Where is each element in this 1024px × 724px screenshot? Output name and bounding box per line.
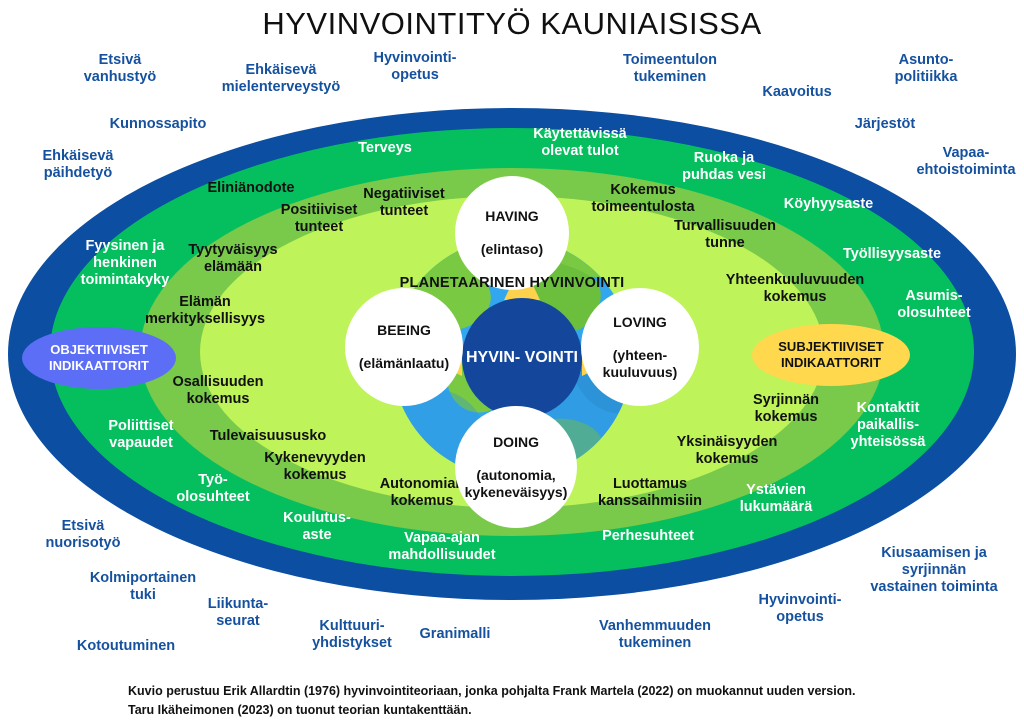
ring1-label-5: Työllisyysaste: [826, 246, 958, 263]
outer-label-8: Ehkäisevä päihdetyö: [18, 148, 138, 182]
ring1-label-0: Terveys: [340, 140, 430, 157]
outer-label-7: Järjestöt: [830, 116, 940, 133]
page-title: HYVINVOINTITYÖ KAUNIAISISSA: [0, 6, 1024, 42]
outer-label-2: Hyvinvointi- opetus: [350, 50, 480, 84]
outer-label-4: Kaavoitus: [742, 84, 852, 101]
ring1-label-4: Köyhyysaste: [766, 196, 891, 213]
outer-label-1: Ehkäisevä mielenterveystyö: [196, 62, 366, 96]
ring1-label-10: Vapaa-ajan mahdollisuudet: [362, 530, 522, 564]
ring2-label-6: Turvallisuuden tunne: [650, 218, 800, 252]
ring2-label-7: Yhteenkuuluvuuden kokemus: [700, 272, 890, 306]
dimension-loving-subtitle: (yhteen- kuuluvuus): [597, 347, 684, 380]
dimension-beeing-subtitle: (elämänlaatu): [353, 355, 455, 372]
objective-indicators-badge[interactable]: OBJEKTIIVISET INDIKAATTORIT: [22, 327, 176, 389]
outer-label-17: Hyvinvointi- opetus: [740, 592, 860, 626]
outer-label-9: Vapaa- ehtoistoiminta: [908, 145, 1024, 179]
outer-label-14: Granimalli: [400, 626, 510, 643]
dimension-doing[interactable]: DOING (autonomia, kykeneväisyys): [455, 406, 577, 528]
ring2-label-12: Luottamus kanssaihmisiin: [570, 476, 730, 510]
infographic-canvas: HYVINVOINTITYÖ KAUNIAISISSA: [0, 0, 1024, 724]
ring2-label-9: Tulevaisuususko: [188, 428, 348, 445]
subjective-indicators-label: SUBJEKTIIVISET INDIKAATTORIT: [778, 339, 883, 372]
ring1-label-1: Käytettävissä olevat tulot: [510, 126, 650, 160]
dimension-beeing[interactable]: BEEING (elämänlaatu): [345, 288, 463, 406]
ring1-label-11: Perhesuhteet: [578, 528, 718, 545]
outer-label-5: Asunto- politiikka: [866, 52, 986, 86]
outer-label-18: Kiusaamisen ja syrjinnän vastainen toimi…: [848, 545, 1020, 596]
source-note: Kuvio perustuu Erik Allardtin (1976) hyv…: [0, 682, 1024, 720]
ring1-label-13: Kontaktit paikallis- yhteisössä: [828, 400, 948, 451]
outer-label-3: Toimeentulon tukeminen: [600, 52, 740, 86]
ring2-label-5: Kokemus toimeentulosta: [568, 182, 718, 216]
outer-label-0: Etsivä vanhustyö: [60, 52, 180, 86]
ring2-label-0: Eliniänodote: [186, 180, 316, 197]
ring1-label-9: Koulutus- aste: [262, 510, 372, 544]
outer-label-15: Kotoutuminen: [56, 638, 196, 655]
ring1-label-2: Ruoka ja puhdas vesi: [664, 150, 784, 184]
ring2-label-4: Negatiiviset tunteet: [340, 186, 468, 220]
dimension-loving[interactable]: LOVING (yhteen- kuuluvuus): [581, 288, 699, 406]
outer-label-6: Kunnossapito: [88, 116, 228, 133]
dimension-doing-subtitle: (autonomia, kykeneväisyys): [459, 467, 574, 500]
ring2-label-3: Elämän merkityksellisyys: [120, 294, 290, 328]
ring1-label-12: Ystävien lukumäärä: [716, 482, 836, 516]
ring2-label-2: Tyytyväisyys elämään: [166, 242, 300, 276]
objective-indicators-label: OBJEKTIIVISET INDIKAATTORIT: [49, 342, 149, 375]
ring2-label-14: Syrjinnän kokemus: [726, 392, 846, 426]
core-label: HYVIN- VOINTI: [466, 349, 578, 367]
subjective-indicators-badge[interactable]: SUBJEKTIIVISET INDIKAATTORIT: [752, 324, 910, 386]
ring1-label-6: Asumis- olosuhteet: [874, 288, 994, 322]
dimension-doing-title: DOING: [459, 434, 574, 451]
dimension-having-subtitle: (elintaso): [475, 241, 549, 258]
ring2-label-13: Yksinäisyyden kokemus: [652, 434, 802, 468]
dimension-having-title: HAVING: [475, 208, 549, 225]
dimension-beeing-title: BEEING: [353, 322, 455, 339]
outer-label-16: Vanhemmuuden tukeminen: [580, 618, 730, 652]
ring1-label-7: Poliittiset vapaudet: [82, 418, 200, 452]
outer-label-12: Liikunta- seurat: [188, 596, 288, 630]
outer-label-10: Etsivä nuorisotyö: [28, 518, 138, 552]
planetary-wellbeing-label: PLANETAARINEN HYVINVOINTI: [392, 275, 632, 291]
dimension-having[interactable]: HAVING (elintaso): [455, 176, 569, 290]
outer-label-13: Kulttuuri- yhdistykset: [292, 618, 412, 652]
dimension-loving-title: LOVING: [597, 314, 684, 331]
core-wellbeing-circle: HYVIN- VOINTI: [462, 298, 582, 418]
ring2-label-8: Osallisuuden kokemus: [148, 374, 288, 408]
